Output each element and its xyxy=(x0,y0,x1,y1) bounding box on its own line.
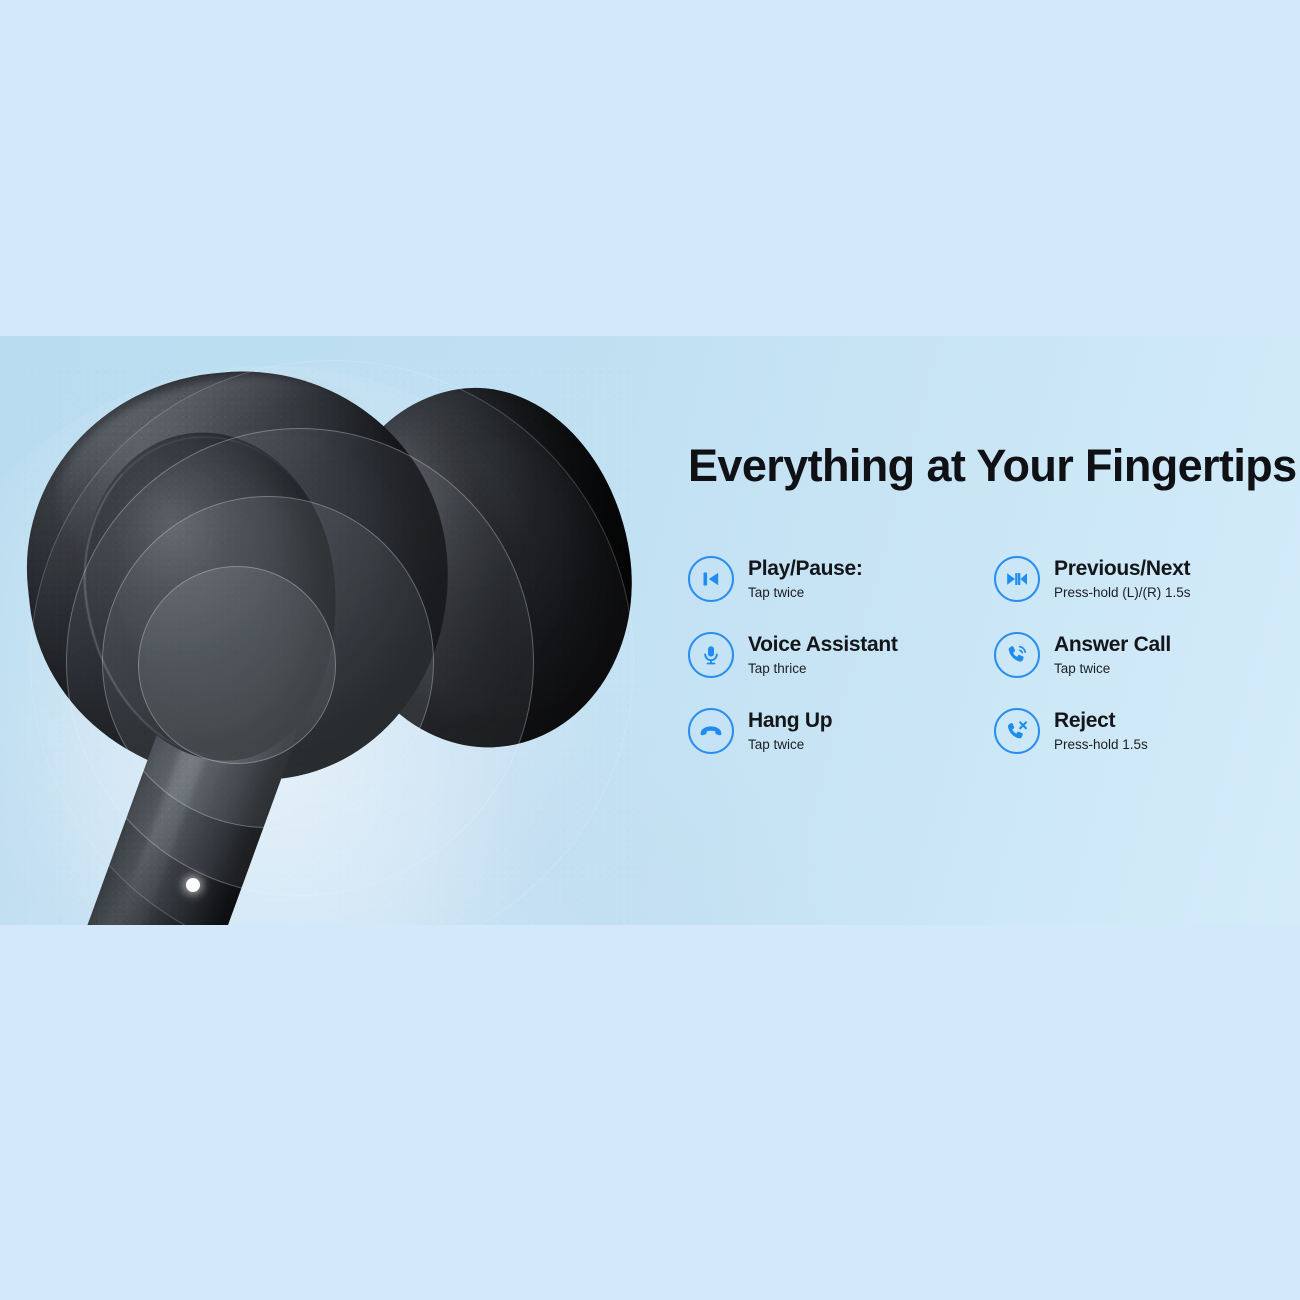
feature-item-previous-next[interactable]: Previous/Next Press-hold (L)/(R) 1.5s xyxy=(994,541,1300,617)
feature-title: Play/Pause: xyxy=(748,557,863,580)
phone-hangup-icon xyxy=(688,708,734,754)
feature-title: Reject xyxy=(1054,709,1115,732)
feature-title: Answer Call xyxy=(1054,633,1171,656)
feature-item-answer-call[interactable]: Answer Call Tap twice xyxy=(994,617,1300,693)
promo-banner: Everything at Your Fingertips Play/Pause… xyxy=(0,336,1300,925)
skip-previous-icon xyxy=(688,556,734,602)
microphone-icon xyxy=(688,632,734,678)
previous-next-icon xyxy=(994,556,1040,602)
feature-text: Reject Press-hold 1.5s xyxy=(1054,709,1148,753)
feature-item-play-pause[interactable]: Play/Pause: Tap twice xyxy=(688,541,994,617)
phone-incoming-icon xyxy=(994,632,1040,678)
feature-text: Hang Up Tap twice xyxy=(748,709,832,753)
feature-subtitle: Tap twice xyxy=(748,584,863,602)
feature-text: Previous/Next Press-hold (L)/(R) 1.5s xyxy=(1054,557,1191,601)
feature-title: Voice Assistant xyxy=(748,633,898,656)
feature-text: Voice Assistant Tap thrice xyxy=(748,633,898,677)
earbud-product-image xyxy=(0,336,680,925)
page-background: Everything at Your Fingertips Play/Pause… xyxy=(0,0,1300,1300)
phone-reject-icon xyxy=(994,708,1040,754)
led-indicator-dot xyxy=(186,878,200,892)
feature-item-voice-assistant[interactable]: Voice Assistant Tap thrice xyxy=(688,617,994,693)
page-title: Everything at Your Fingertips xyxy=(688,442,1300,489)
feature-subtitle: Press-hold (L)/(R) 1.5s xyxy=(1054,584,1191,602)
feature-subtitle: Press-hold 1.5s xyxy=(1054,736,1148,754)
feature-subtitle: Tap twice xyxy=(1054,660,1171,678)
feature-grid: Play/Pause: Tap twice xyxy=(688,541,1300,769)
feature-title: Previous/Next xyxy=(1054,557,1190,580)
feature-subtitle: Tap thrice xyxy=(748,660,898,678)
feature-title: Hang Up xyxy=(748,709,832,732)
feature-text: Play/Pause: Tap twice xyxy=(748,557,863,601)
feature-item-hang-up[interactable]: Hang Up Tap twice xyxy=(688,693,994,769)
feature-text: Answer Call Tap twice xyxy=(1054,633,1171,677)
banner-content: Everything at Your Fingertips Play/Pause… xyxy=(688,442,1300,769)
feature-item-reject[interactable]: Reject Press-hold 1.5s xyxy=(994,693,1300,769)
feature-subtitle: Tap twice xyxy=(748,736,832,754)
